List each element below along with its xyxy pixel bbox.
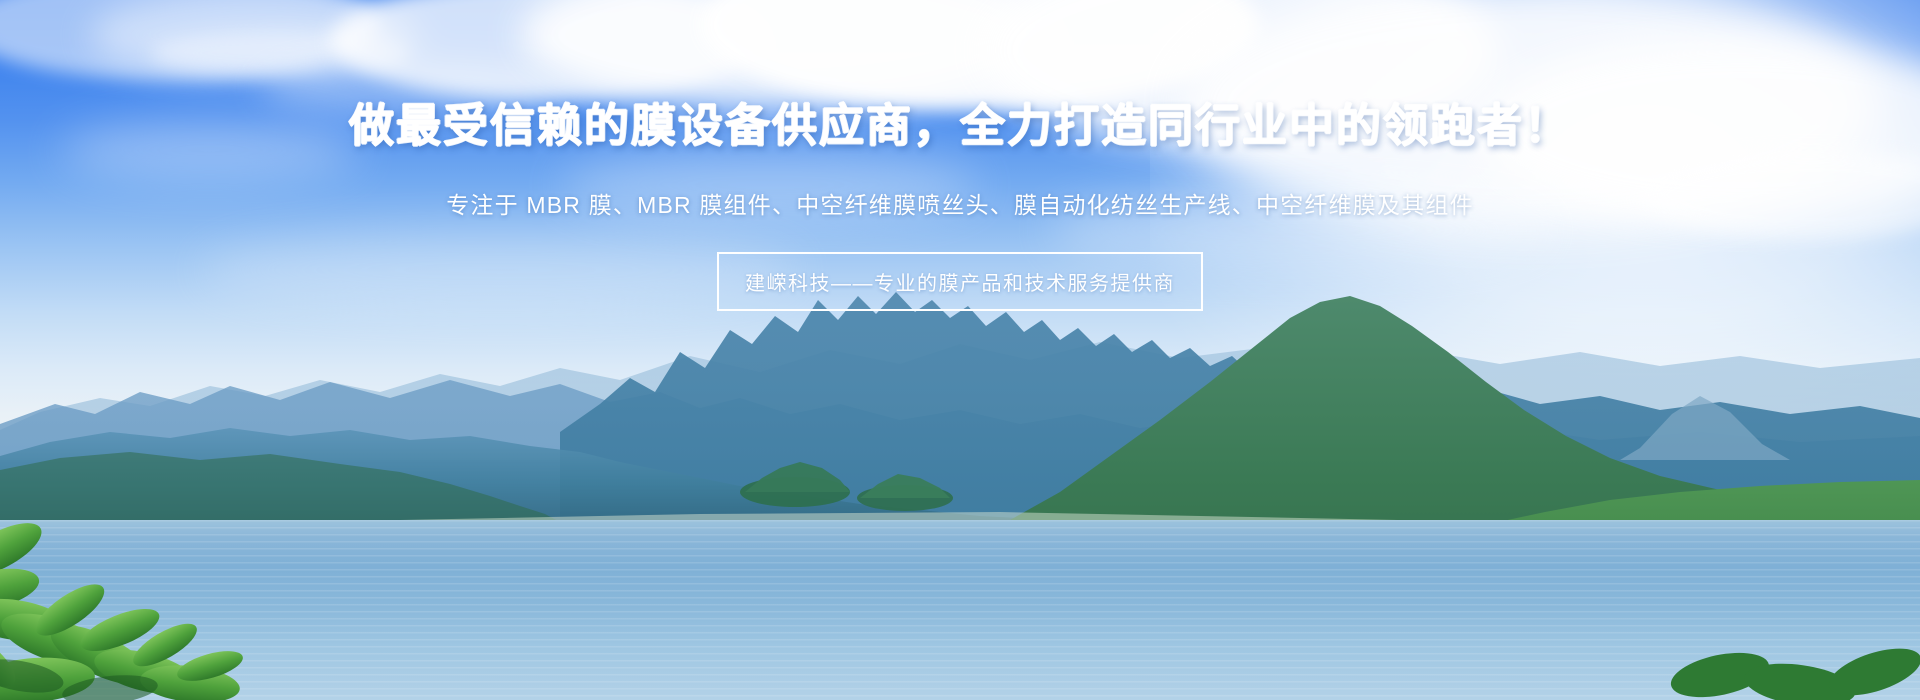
banner-tagline-box: 建嵘科技——专业的膜产品和技术服务提供商 — [717, 252, 1203, 311]
banner-text-block: 做最受信赖的膜设备供应商，全力打造同行业中的领跑者！ 专注于 MBR 膜、MBR… — [0, 0, 1920, 700]
hero-banner: 做最受信赖的膜设备供应商，全力打造同行业中的领跑者！ 专注于 MBR 膜、MBR… — [0, 0, 1920, 700]
banner-headline: 做最受信赖的膜设备供应商，全力打造同行业中的领跑者！ — [349, 98, 1571, 154]
banner-subtitle: 专注于 MBR 膜、MBR 膜组件、中空纤维膜喷丝头、膜自动化纺丝生产线、中空纤… — [446, 186, 1474, 220]
